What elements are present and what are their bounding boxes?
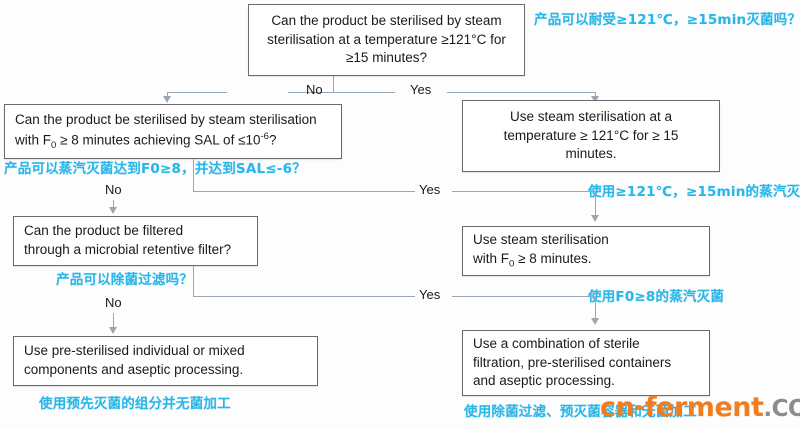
connector-q2-no-arrowhead [109, 207, 117, 214]
edge-label-q2-yes: Yes [419, 182, 440, 197]
connector-q2-yes-down [595, 191, 596, 218]
connector-q1-yes-branch [333, 92, 395, 93]
node-q3-line2: through a microbial retentive filter? [24, 242, 231, 257]
node-a4-line2: components and aseptic processing. [24, 362, 243, 377]
node-q1-line3: ≥15 minutes? [346, 50, 427, 65]
node-q3-line1: Can the product be filtered [24, 223, 183, 238]
connector-q2-yes-run [193, 191, 415, 192]
flowchart-canvas: Can the product be sterilised by steam s… [0, 0, 800, 429]
node-a3-line3: and aseptic processing. [473, 373, 615, 388]
node-q3-question-filter: Can the product be filtered through a mi… [13, 216, 258, 266]
connector-q3-yes-tail [452, 296, 595, 297]
edge-label-q3-no: No [105, 295, 122, 310]
node-a3-line1: Use a combination of sterile [473, 336, 640, 351]
connector-q2-yes-tail [452, 191, 595, 192]
connector-q3-no-arrowhead [109, 327, 117, 334]
watermark-secondary: .COM [763, 396, 800, 422]
node-q1-line2: sterilisation at a temperature ≥121°C fo… [267, 32, 506, 47]
node-q1-text: Can the product be sterilised by steam s… [249, 12, 524, 68]
node-a1-line2: temperature ≥ 121°C for ≥ 15 [504, 128, 679, 143]
node-a2-use-steam-f0: Use steam sterilisation with F0 ≥ 8 minu… [462, 226, 710, 276]
node-q1-line1: Can the product be sterilised by steam [271, 13, 501, 28]
node-a1-use-steam-121c: Use steam sterilisation at a temperature… [462, 100, 720, 172]
node-a2-annotation-cn: 使用F0≥8的蒸汽灭菌 [588, 285, 724, 305]
connector-q1-yes-tail [447, 92, 595, 93]
node-a4-annotation-cn: 使用预先灭菌的组分并无菌加工 [39, 392, 231, 412]
node-a2-text: Use steam sterilisation with F0 ≥ 8 minu… [463, 231, 709, 270]
edge-label-q1-yes: Yes [410, 82, 431, 97]
node-q2-line2-superscript: -6 [261, 131, 269, 142]
connector-q1-stem [333, 76, 334, 92]
node-a2-line2a: with F [473, 251, 509, 266]
node-a4-text: Use pre-sterilised individual or mixed c… [14, 342, 317, 379]
node-q2-line2b: ≥ 8 minutes achieving SAL of ≤10 [56, 132, 260, 147]
connector-q3-yes-riser [193, 266, 194, 296]
edge-label-q3-yes: Yes [419, 287, 440, 302]
node-a1-text: Use steam sterilisation at a temperature… [463, 108, 719, 164]
connector-q2-yes-arrowhead [591, 215, 599, 222]
node-q1-annotation-cn: 产品可以耐受≥121℃，≥15min灭菌吗？ [534, 8, 800, 28]
node-q2-line2c: ? [269, 132, 277, 147]
node-q3-annotation-cn: 产品可以除菌过滤吗？ [56, 268, 193, 288]
node-a2-line2b: ≥ 8 minutes. [514, 251, 591, 266]
node-a1-annotation-cn: 使用≥121℃，≥15min的蒸汽灭菌 [588, 180, 800, 200]
node-q2-text: Can the product be sterilised by steam s… [5, 111, 341, 152]
node-q2-line2a: with F [15, 132, 51, 147]
connector-q1-no-tail [167, 92, 227, 93]
node-q2-line1: Can the product be sterilised by steam s… [15, 112, 317, 127]
connector-q2-yes-riser [193, 159, 194, 191]
connector-q3-yes-arrowhead [591, 318, 599, 325]
connector-q1-no-arrowhead [163, 96, 171, 103]
edge-label-q1-no: No [306, 82, 323, 97]
node-a1-line3: minutes. [565, 146, 616, 161]
node-a4-pre-sterilised-components: Use pre-sterilised individual or mixed c… [13, 336, 318, 386]
node-q1-question-steam-121c: Can the product be sterilised by steam s… [248, 4, 525, 76]
node-a4-line1: Use pre-sterilised individual or mixed [24, 343, 245, 358]
node-a3-text: Use a combination of sterile filtration,… [463, 335, 709, 391]
node-a2-line1: Use steam sterilisation [473, 232, 609, 247]
node-q2-question-f0-sal: Can the product be sterilised by steam s… [4, 104, 342, 159]
watermark-primary: cn-ferment [600, 392, 763, 423]
edge-label-q2-no: No [105, 182, 122, 197]
watermark: cn-ferment.COM [600, 392, 800, 423]
connector-q3-yes-run [193, 296, 415, 297]
node-q2-annotation-cn: 产品可以蒸汽灭菌达到F0≥8，并达到SAL≤-6？ [4, 157, 306, 177]
node-a1-line1: Use steam sterilisation at a [510, 109, 672, 124]
node-a3-combination-sterile-filtration: Use a combination of sterile filtration,… [462, 330, 710, 396]
node-a3-line2: filtration, pre-sterilised containers [473, 355, 671, 370]
node-q3-text: Can the product be filtered through a mi… [14, 222, 257, 259]
